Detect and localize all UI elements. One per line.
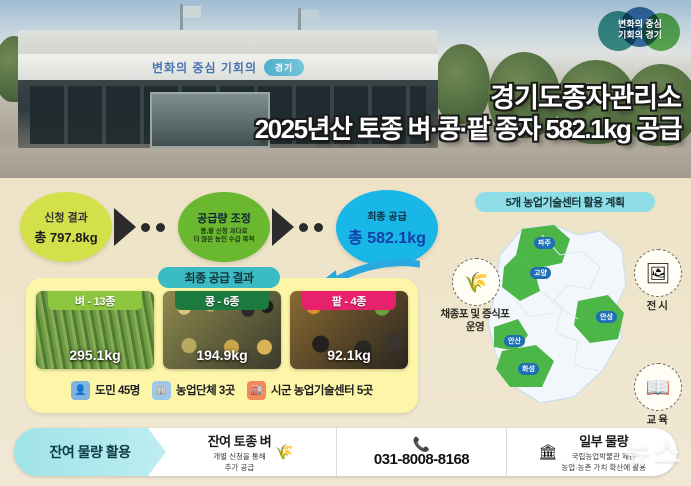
flow-dot	[156, 223, 165, 232]
product-tag-redbean: 팥 - 4종	[302, 291, 396, 310]
flow-arrow-2	[272, 208, 294, 246]
headline-subtitle: 2025년산 토종 벼·콩·팥 종자 582.1kg 공급	[255, 116, 681, 143]
product-card-bean: 콩 - 6종 194.9kg	[163, 291, 281, 369]
map-label-goyang: 고양	[530, 267, 551, 279]
flow-step-3-value: 총 582.1kg	[348, 224, 426, 248]
education-label: 교 육	[612, 412, 691, 427]
bottom-bar-left-label: 잔여 물량 활용	[14, 428, 166, 476]
map-label-paju: 파주	[534, 237, 555, 249]
seed-field-icon: 🌾	[452, 258, 500, 306]
flag	[301, 10, 319, 22]
display-label: 전 시	[612, 298, 691, 313]
final-result-ribbon: 최종 공급 결과	[158, 267, 280, 288]
remaining-rice-title: 잔여 토종 벼	[208, 431, 272, 450]
product-weight-redbean: 92.1kg	[290, 347, 408, 363]
product-card-list: 벼 - 13종 295.1kg 콩 - 6종 194.9kg 팥 - 4종 92…	[36, 291, 408, 369]
remaining-rice-sub: 개별 신청을 통해 추가 공급	[208, 452, 272, 472]
product-weight-bean: 194.9kg	[163, 347, 281, 363]
building-icon: 🏢	[152, 381, 171, 400]
flow-step-2-sub: 콩,팥 신청 과다로 더 많은 농민 수급 목적	[193, 228, 254, 245]
logo-text: 변화의 중심 기회의 경기	[606, 19, 674, 42]
flow-dot	[299, 223, 308, 232]
flow-arrow-1	[114, 208, 136, 246]
bottom-info-bar: 잔여 물량 활용 잔여 토종 벼 개별 신청을 통해 추가 공급 🌾 📞 031…	[14, 428, 677, 476]
ground	[0, 148, 691, 178]
phone-icon: 📞	[374, 437, 469, 451]
bottom-segment-museum: 🏛 일부 물량 국립농업박물관 제공 농업·농촌 가치 확산에 활용	[507, 428, 677, 476]
logo-text-line1: 변화의 중심	[606, 19, 674, 30]
flag	[183, 6, 201, 18]
headline-block: 경기도종자관리소 2025년산 토종 벼·콩·팥 종자 582.1kg 공급	[255, 84, 681, 144]
logo-text-line2: 기회의 경기	[606, 30, 674, 41]
display-icon: 🖼	[634, 249, 682, 297]
gyeonggi-brand-logo: 변화의 중심 기회의 경기	[596, 7, 682, 57]
flow-step-1-title: 신청 결과	[44, 209, 88, 225]
museum-title: 일부 물량	[561, 431, 646, 450]
flow-step-application-result: 신청 결과 총 797.8kg	[20, 192, 112, 262]
map-label-anseong: 안성	[596, 311, 617, 323]
flow-step-3-title: 최종 공급	[367, 208, 407, 223]
product-card-rice: 벼 - 13종 295.1kg	[36, 291, 154, 369]
person-icon: 👤	[71, 381, 90, 400]
stat-residents-label: 도민 45명	[95, 382, 140, 398]
product-card-redbean: 팥 - 4종 92.1kg	[290, 291, 408, 369]
office-icon: 🏭	[247, 381, 266, 400]
stat-centers: 🏭 시군 농업기술센터 5곳	[247, 381, 373, 400]
building-entrance	[150, 92, 270, 148]
map-label-hwaseong: 화성	[518, 363, 539, 375]
museum-sub: 국립농업박물관 제공 농업·농촌 가치 확산에 활용	[561, 452, 646, 472]
flow-step-2-title: 공급량 조정	[197, 210, 251, 226]
stat-organizations: 🏢 농업단체 3곳	[152, 381, 235, 400]
building-sign-text: 변화의 중심 기회의	[152, 59, 257, 76]
bottom-segment-phone: 📞 031-8008-8168	[337, 428, 508, 476]
infographic-poster: 변화의 중심 기회의 경기 변화의 중심 기회의 경기 경기도종자관리소 202…	[0, 0, 691, 486]
contact-phone-number[interactable]: 031-8008-8168	[374, 451, 469, 468]
headline-title: 경기도종자관리소	[255, 84, 681, 112]
flow-step-final-supply: 최종 공급 총 582.1kg	[336, 190, 438, 266]
bottom-segment-remaining-rice: 잔여 토종 벼 개별 신청을 통해 추가 공급 🌾	[166, 428, 337, 476]
stat-centers-label: 시군 농업기술센터 5곳	[271, 382, 373, 398]
education-icon: 📖	[634, 363, 682, 411]
stat-residents: 👤 도민 45명	[71, 381, 140, 400]
flow-dot	[314, 223, 323, 232]
seed-field-label: 채종포 및 증식포 운영	[430, 308, 520, 333]
stat-organizations-label: 농업단체 3곳	[176, 382, 235, 398]
building-sign: 변화의 중심 기회의 경기	[18, 54, 438, 80]
flow-step-supply-adjustment: 공급량 조정 콩,팥 신청 과다로 더 많은 농민 수급 목적	[178, 192, 270, 262]
map-panel-title: 5개 농업기술센터 활용 계획	[475, 192, 655, 212]
flow-step-1-value: 총 797.8kg	[34, 227, 97, 246]
museum-icon: 🏛	[538, 443, 557, 461]
map-label-ansan: 안산	[504, 335, 525, 347]
recipient-stats-row: 👤 도민 45명 🏢 농업단체 3곳 🏭 시군 농업기술센터 5곳	[30, 378, 414, 402]
rice-icon: 🌾	[275, 443, 294, 461]
building-sign-chip: 경기	[264, 59, 304, 76]
product-tag-rice: 벼 - 13종	[48, 291, 142, 310]
product-tag-bean: 콩 - 6종	[175, 291, 269, 310]
flow-dot	[141, 223, 150, 232]
product-weight-rice: 295.1kg	[36, 347, 154, 363]
